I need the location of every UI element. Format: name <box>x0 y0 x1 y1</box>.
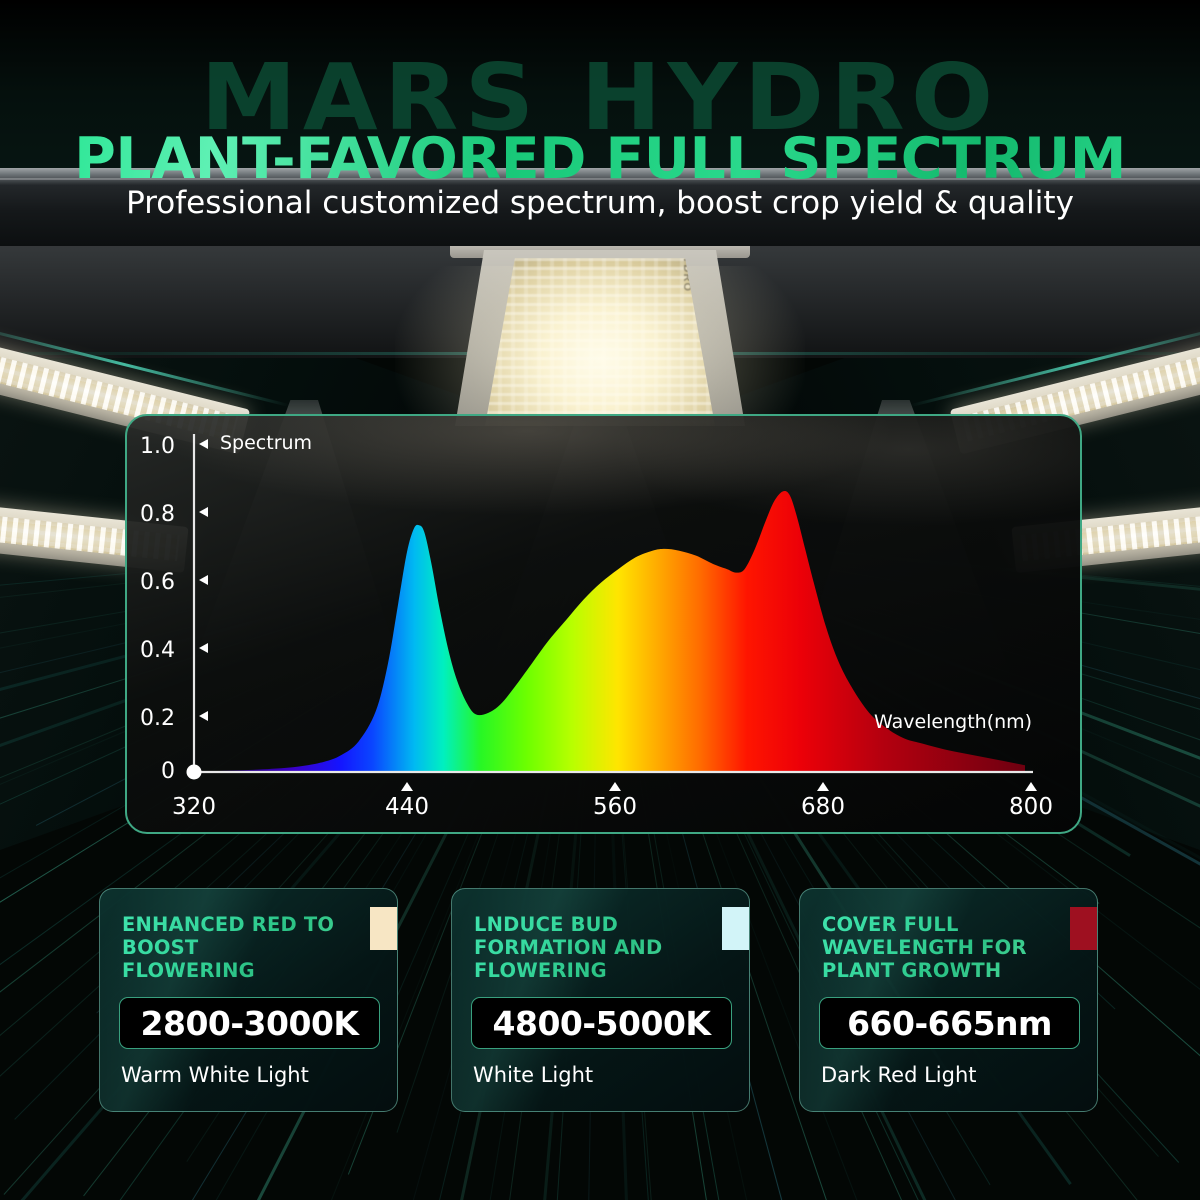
x-tick-label-800: 800 <box>991 794 1071 820</box>
y-tick-marker-1-0 <box>199 439 208 449</box>
card-value: 4800-5000K <box>493 1004 711 1043</box>
x-tick-label-680: 680 <box>783 794 863 820</box>
header-banner: MARS HYDRO PLANT-FAVORED FULL SPECTRUM P… <box>0 0 1200 245</box>
y-tick-marker-0-2 <box>199 711 208 721</box>
x-tick-label-440: 440 <box>367 794 447 820</box>
card-heading: LNDUCE BUD FORMATION AND FLOWERING <box>474 913 689 982</box>
x-tick-label-560: 560 <box>575 794 655 820</box>
card-heading: ENHANCED RED TO BOOST FLOWERING <box>122 913 337 982</box>
card-value: 2800-3000K <box>141 1004 359 1043</box>
card-value-pill: 660-665nm <box>819 997 1080 1049</box>
y-tick-marker-0-6 <box>199 575 208 585</box>
card-footer: Dark Red Light <box>821 1063 977 1087</box>
page-subtitle: Professional customized spectrum, boost … <box>0 185 1200 221</box>
y-tick-label-1-0: 1.0 <box>125 434 175 459</box>
card-value: 660-665nm <box>847 1004 1052 1043</box>
x-tick-marker-560 <box>609 782 621 791</box>
x-tick-marker-800 <box>1025 782 1037 791</box>
x-tick-label-320: 320 <box>154 794 234 820</box>
warm-white-swatch <box>370 907 397 950</box>
spectrum-plot <box>127 416 1080 832</box>
deep-red-swatch <box>1070 907 1097 950</box>
y-tick-label-0-6: 0.6 <box>125 570 175 595</box>
product-spectrum-infographic: MARS HYDRO MARS HYDRO PLANT-FAVORED FULL… <box>0 0 1200 1200</box>
card-value-pill: 2800-3000K <box>119 997 380 1049</box>
x-tick-marker-680 <box>817 782 829 791</box>
y-tick-label-0: 0 <box>125 759 175 784</box>
y-tick-marker-0-4 <box>199 643 208 653</box>
spectrum-series-label: Spectrum <box>220 432 312 454</box>
y-tick-label-0-2: 0.2 <box>125 706 175 731</box>
spectrum-chart-panel: 1.0 0.8 0.6 0.4 0.2 0 Spectrum Wavelengt… <box>125 414 1082 834</box>
white-swatch <box>722 907 749 950</box>
y-tick-label-0-4: 0.4 <box>125 638 175 663</box>
x-axis-title: Wavelength(nm) <box>874 711 1032 733</box>
card-heading: COVER FULL WAVELENGTH FOR PLANT GROWTH <box>822 913 1037 982</box>
card-footer: Warm White Light <box>121 1063 309 1087</box>
y-tick-marker-0-8 <box>199 507 208 517</box>
y-tick-label-0-8: 0.8 <box>125 502 175 527</box>
feature-card-white[interactable]: LNDUCE BUD FORMATION AND FLOWERING 4800-… <box>451 888 750 1112</box>
page-title: PLANT-FAVORED FULL SPECTRUM <box>0 126 1200 192</box>
x-tick-marker-440 <box>401 782 413 791</box>
feature-card-deep-red[interactable]: COVER FULL WAVELENGTH FOR PLANT GROWTH 6… <box>799 888 1098 1112</box>
card-footer: White Light <box>473 1063 593 1087</box>
feature-card-warm-white[interactable]: ENHANCED RED TO BOOST FLOWERING 2800-300… <box>99 888 398 1112</box>
center-led-fixture: MARS HYDRO <box>455 236 745 426</box>
card-value-pill: 4800-5000K <box>471 997 732 1049</box>
